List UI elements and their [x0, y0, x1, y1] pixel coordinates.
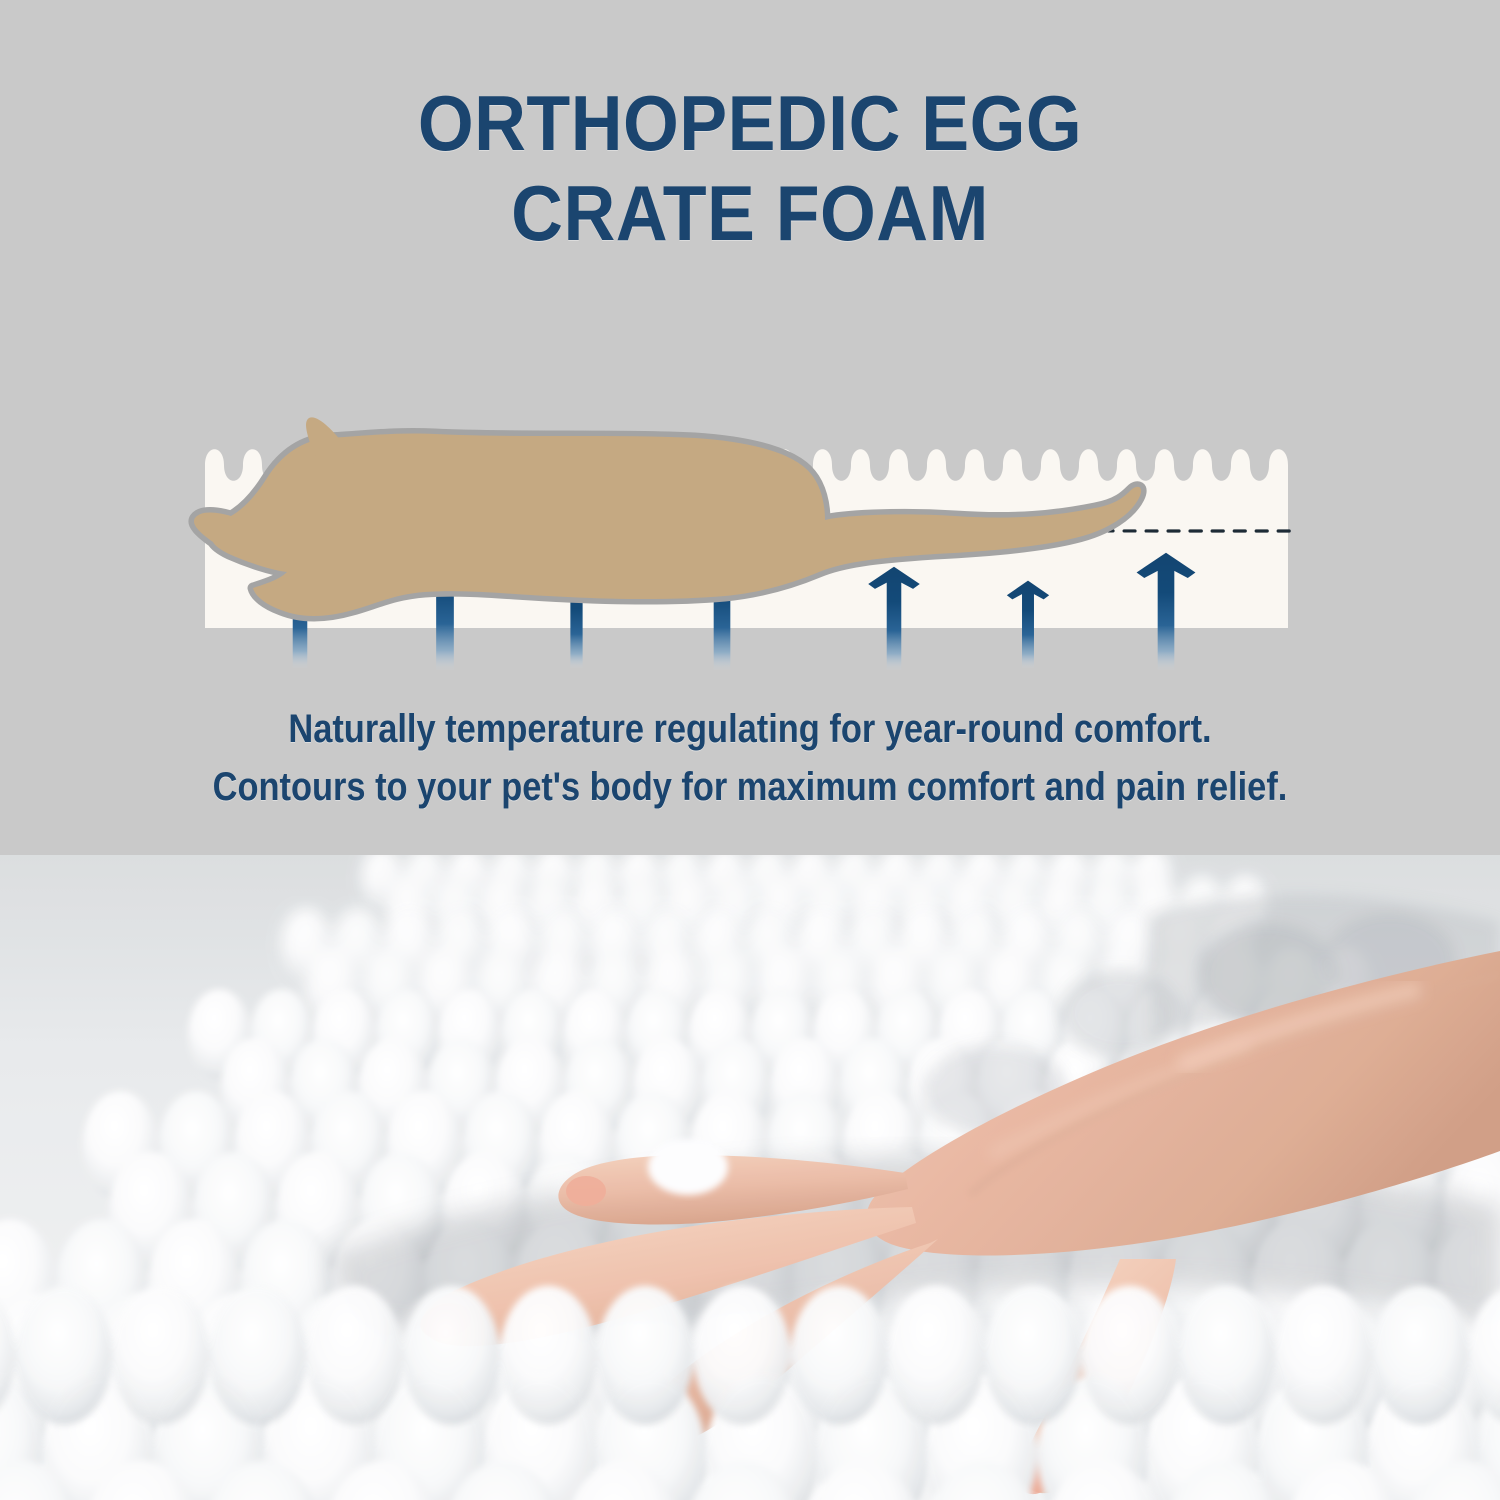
feature-description-line-1: Naturally temperature regulating for yea…	[105, 700, 1395, 758]
hand-pressing-egg-crate-foam-photo	[0, 855, 1500, 1500]
foam-compression-diagram	[0, 300, 1500, 680]
feature-description: Naturally temperature regulating for yea…	[105, 700, 1395, 816]
page-title-line-2: CRATE FOAM	[60, 168, 1440, 258]
infographic-page: ORTHOPEDIC EGG CRATE FOAM	[0, 0, 1500, 1500]
diagram-panel: ORTHOPEDIC EGG CRATE FOAM	[0, 0, 1500, 855]
feature-description-line-2: Contours to your pet's body for maximum …	[105, 758, 1395, 816]
page-title: ORTHOPEDIC EGG CRATE FOAM	[60, 78, 1440, 258]
page-title-line-1: ORTHOPEDIC EGG	[418, 79, 1082, 167]
